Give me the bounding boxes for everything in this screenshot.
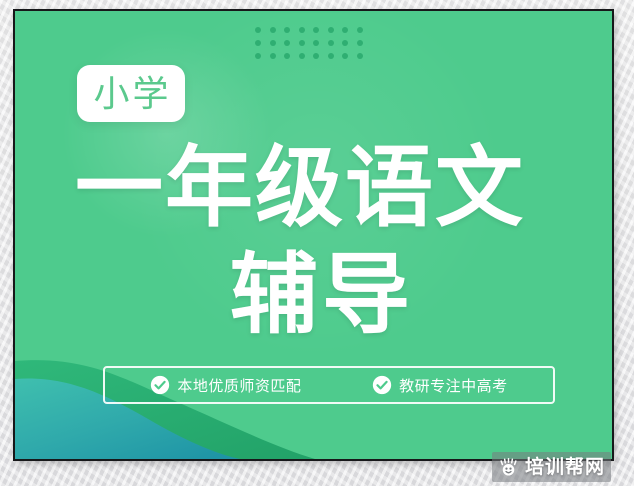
site-watermark: 培训帮网 [492, 452, 611, 482]
feature-item: 教研专注中高考 [372, 375, 508, 396]
grade-level-badge: 小学 [77, 65, 185, 122]
poster-page: 小学 一年级语文 辅导 本地优质师资匹配 教研专注中高考 [0, 0, 634, 486]
poster-card: 小学 一年级语文 辅导 本地优质师资匹配 教研专注中高考 [13, 9, 614, 461]
feature-highlight-bar: 本地优质师资匹配 教研专注中高考 [103, 366, 555, 404]
site-watermark-label: 培训帮网 [525, 458, 605, 477]
dot-grid-icon [251, 23, 367, 63]
poster-title-line-2: 辅导 [230, 251, 414, 339]
grade-level-badge-label: 小学 [90, 76, 171, 112]
feature-item: 本地优质师资匹配 [150, 375, 301, 396]
check-circle-icon [150, 375, 170, 395]
feature-label: 本地优质师资匹配 [177, 375, 301, 396]
sun-face-logo-icon [498, 457, 519, 478]
check-circle-icon [372, 375, 392, 395]
poster-title-line-1: 一年级语文 [75, 144, 525, 232]
feature-label: 教研专注中高考 [399, 375, 508, 396]
